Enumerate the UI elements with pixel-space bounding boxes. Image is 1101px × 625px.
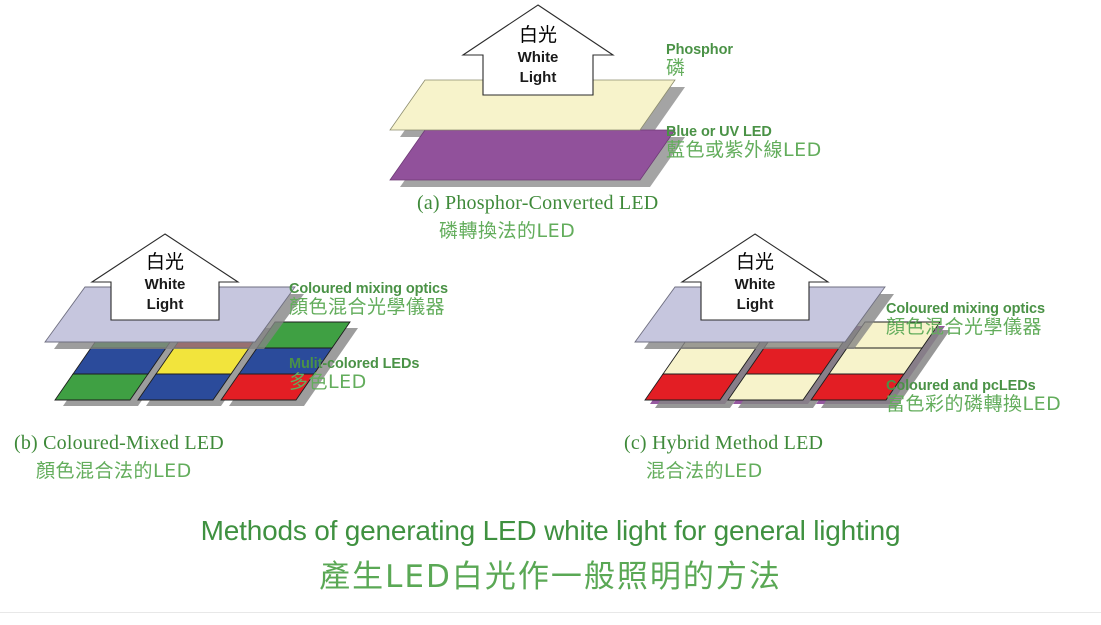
caption-panel-a-en: (a) Phosphor-Converted LED bbox=[417, 192, 658, 215]
caption-panel-c-cn: 混合法的LED bbox=[624, 456, 823, 483]
figure-canvas: 白光 White Light Phosphor 磷 Blue or UV LED… bbox=[0, 0, 1101, 625]
arrow-label-cn: 白光 bbox=[736, 251, 774, 273]
figure-title-en: Methods of generating LED white light fo… bbox=[0, 515, 1101, 547]
annotation-phosphor-en: Phosphor bbox=[666, 42, 733, 58]
caption-panel-b-en: (b) Coloured-Mixed LED bbox=[14, 432, 224, 455]
annotation-coloured-mixing-optics-c: Coloured mixing optics 顏色混合光學儀器 bbox=[886, 301, 1045, 339]
panel-c-hybrid-method-led: 白光 White Light bbox=[600, 232, 900, 432]
annotation-blue-or-uv-led-en: Blue or UV LED bbox=[666, 124, 822, 140]
annotation-multi-colored-leds-en: Mulit-colored LEDs bbox=[289, 356, 419, 372]
annotation-blue-or-uv-led: Blue or UV LED 藍色或紫外線LED bbox=[666, 124, 822, 162]
panel-b-coloured-mixed-led: 白光 White Light bbox=[10, 232, 310, 432]
annotation-phosphor: Phosphor 磷 bbox=[666, 42, 733, 80]
bottom-divider bbox=[0, 612, 1101, 613]
arrow-label-cn: 白光 bbox=[519, 24, 557, 46]
caption-panel-b-cn: 顏色混合法的LED bbox=[14, 456, 224, 483]
arrow-label-cn: 白光 bbox=[146, 251, 184, 273]
arrow-label-en-line1: White bbox=[145, 276, 186, 293]
arrow-label-en-line1: White bbox=[518, 49, 559, 66]
caption-panel-b: (b) Coloured-Mixed LED 顏色混合法的LED bbox=[14, 432, 224, 483]
panel-a-phosphor-converted-led: 白光 White Light bbox=[380, 0, 700, 190]
figure-title: Methods of generating LED white light fo… bbox=[0, 515, 1101, 596]
annotation-coloured-mixing-optics-c-cn: 顏色混合光學儀器 bbox=[886, 317, 1045, 338]
arrow-label-en-line2: Light bbox=[737, 296, 774, 313]
arrow-label-en-line2: Light bbox=[147, 296, 184, 313]
arrow-label-en-line2: Light bbox=[520, 69, 557, 86]
annotation-coloured-mixing-optics-c-en: Coloured mixing optics bbox=[886, 301, 1045, 317]
annotation-coloured-mixing-optics-b-en: Coloured mixing optics bbox=[289, 281, 448, 297]
panel-c-diagram: 白光 White Light bbox=[600, 232, 900, 432]
panel-a-diagram: 白光 White Light bbox=[380, 0, 700, 190]
annotation-phosphor-cn: 磷 bbox=[666, 58, 733, 79]
annotation-coloured-and-pcleds-en: Coloured and pcLEDs bbox=[886, 378, 1061, 394]
arrow-label-en-line1: White bbox=[735, 276, 776, 293]
blue-or-uv-led-layer bbox=[390, 130, 675, 180]
panel-b-diagram: 白光 White Light bbox=[10, 232, 310, 432]
annotation-coloured-mixing-optics-b: Coloured mixing optics 顏色混合光學儀器 bbox=[289, 281, 448, 319]
caption-panel-c-en: (c) Hybrid Method LED bbox=[624, 432, 823, 455]
annotation-coloured-and-pcleds: Coloured and pcLEDs 富色彩的磷轉換LED bbox=[886, 378, 1061, 416]
annotation-multi-colored-leds-cn: 多色LED bbox=[289, 372, 419, 393]
annotation-coloured-and-pcleds-cn: 富色彩的磷轉換LED bbox=[886, 394, 1061, 415]
caption-panel-c: (c) Hybrid Method LED 混合法的LED bbox=[624, 432, 823, 483]
annotation-blue-or-uv-led-cn: 藍色或紫外線LED bbox=[666, 140, 822, 161]
figure-title-cn: 產生LED白光作一般照明的方法 bbox=[0, 551, 1101, 596]
annotation-multi-colored-leds: Mulit-colored LEDs 多色LED bbox=[289, 356, 419, 394]
annotation-coloured-mixing-optics-b-cn: 顏色混合光學儀器 bbox=[289, 297, 448, 318]
